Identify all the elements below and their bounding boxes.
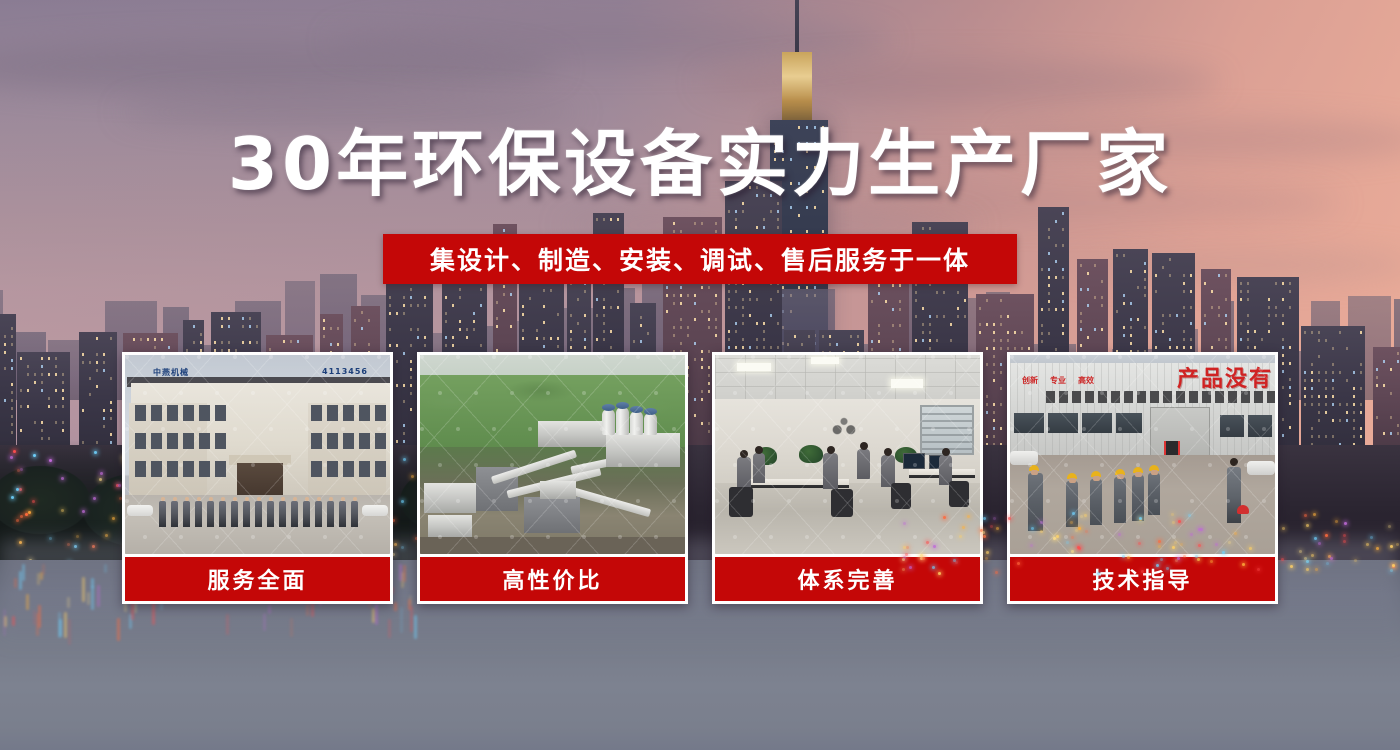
window-light (899, 300, 901, 303)
window-light (228, 341, 230, 344)
window-light (424, 296, 426, 299)
staff-figure (315, 501, 322, 527)
window-light (389, 328, 391, 331)
building-window (183, 433, 194, 449)
water-reflection (414, 615, 417, 639)
window-light (103, 361, 105, 364)
window-light (633, 340, 635, 343)
window-light (55, 365, 57, 368)
window-light (1304, 403, 1306, 406)
window-light (27, 373, 29, 376)
window-light (1311, 435, 1313, 438)
window-light (673, 230, 675, 233)
window-light (361, 311, 363, 314)
shore-light (1318, 542, 1321, 545)
water-reflection (59, 619, 62, 636)
window-light (936, 315, 938, 318)
window-light (1062, 212, 1064, 215)
window-light (410, 344, 412, 347)
window-light (770, 314, 772, 317)
shore-light (1197, 558, 1200, 561)
window-light (1376, 376, 1378, 379)
window-light (228, 325, 230, 328)
window-light (666, 294, 668, 297)
window-light (1123, 294, 1125, 297)
window-light (452, 336, 454, 339)
window-light (1094, 296, 1096, 299)
window-light (103, 369, 105, 372)
window-light (1282, 354, 1284, 357)
window-light (735, 322, 737, 325)
window-light (673, 334, 675, 337)
window-light (1268, 330, 1270, 333)
red-helmet-icon (1237, 505, 1249, 514)
window-light (899, 324, 901, 327)
window-light (133, 338, 135, 341)
window-light (777, 226, 779, 229)
window-light (617, 290, 619, 293)
window-light (4, 351, 6, 354)
water-reflection (38, 605, 41, 628)
window-light (763, 218, 765, 221)
window-light (103, 409, 105, 412)
window-light (1318, 339, 1320, 342)
shore-light (93, 497, 96, 500)
window-light (1247, 346, 1249, 349)
window-light (749, 314, 751, 317)
window-light (666, 310, 668, 313)
window-light (1176, 346, 1178, 349)
window-light (1332, 395, 1334, 398)
window-light (584, 338, 586, 341)
window-light (11, 335, 13, 338)
window-light (557, 337, 559, 340)
factory-wall-text: 产品没有 (1177, 361, 1273, 393)
window-light (34, 421, 36, 424)
window-light (1007, 339, 1009, 342)
building-window (167, 405, 178, 421)
window-light (687, 326, 689, 329)
shore-light (99, 478, 102, 481)
window-light (850, 335, 852, 338)
window-light (41, 357, 43, 360)
shore-light (920, 554, 923, 557)
window-light (1190, 274, 1192, 277)
window-light (993, 331, 995, 334)
shore-light (1078, 527, 1081, 530)
window-light (1211, 346, 1213, 349)
photo-office-interior (715, 355, 980, 554)
window-light (1325, 339, 1327, 342)
window-light (510, 293, 512, 296)
window-light (708, 286, 710, 289)
window-light (55, 357, 57, 360)
window-light (1087, 304, 1089, 307)
window-light (417, 336, 419, 339)
window-light (1000, 315, 1002, 318)
window-light (993, 323, 995, 326)
window-light (715, 334, 717, 337)
window-light (735, 218, 737, 221)
window-light (103, 353, 105, 356)
window-light (283, 340, 285, 343)
shore-light (1190, 533, 1193, 536)
window-light (715, 326, 717, 329)
window-light (1353, 427, 1355, 430)
window-light (1289, 394, 1291, 397)
shore-light (32, 500, 35, 503)
window-light (1247, 338, 1249, 341)
window-light (603, 314, 605, 317)
window-light (728, 330, 730, 333)
window-light (1282, 346, 1284, 349)
window-light (1218, 338, 1220, 341)
window-light (1282, 418, 1284, 421)
window-light (543, 321, 545, 324)
window-light (473, 312, 475, 315)
window-light (445, 312, 447, 315)
feature-card-system[interactable]: 体系完善 (712, 352, 983, 604)
window-light (1101, 280, 1103, 283)
shore-light (983, 535, 986, 538)
window-light (1190, 322, 1192, 325)
water-reflection (22, 564, 25, 581)
window-light (871, 340, 873, 343)
building-window (135, 461, 146, 477)
window-light (1062, 228, 1064, 231)
staff-figure (195, 501, 202, 527)
window-light (777, 290, 779, 293)
shore-light (100, 472, 103, 475)
building-window (359, 433, 370, 449)
window-light (1190, 346, 1192, 349)
staff-figure (267, 501, 274, 527)
window-light (570, 338, 572, 341)
shore-light (20, 515, 23, 518)
window-light (221, 341, 223, 344)
window-light (1360, 403, 1362, 406)
window-light (1062, 292, 1064, 295)
water-reflection (388, 619, 391, 638)
window-light (11, 415, 13, 418)
staff-figure (207, 501, 214, 527)
window-light (763, 322, 765, 325)
window-light (1080, 264, 1082, 267)
shore-light (995, 571, 998, 574)
window-light (459, 296, 461, 299)
window-light (55, 405, 57, 408)
window-light (41, 389, 43, 392)
feature-card-training[interactable]: 产品没有 创新 专业 高效 (1007, 352, 1278, 604)
window-light (1101, 304, 1103, 307)
window-light (640, 324, 642, 327)
window-light (1169, 314, 1171, 317)
building-window (151, 433, 162, 449)
shore-light (16, 519, 19, 522)
window-light (27, 365, 29, 368)
window-light (550, 289, 552, 292)
window-light (11, 407, 13, 410)
window-light (1062, 332, 1064, 335)
water-reflection (97, 585, 100, 608)
card-caption-label: 高性价比 (502, 563, 602, 595)
window-light (915, 315, 917, 318)
window-light (1204, 282, 1206, 285)
window-light (154, 338, 156, 341)
shore-light (1392, 564, 1395, 567)
window-light (964, 299, 966, 302)
water-reflection (91, 586, 94, 609)
card-caption-bar: 高性价比 (420, 554, 685, 601)
window-light (936, 291, 938, 294)
window-light (1311, 395, 1313, 398)
staff-figure (339, 501, 346, 527)
window-light (922, 339, 924, 342)
shore-light (1311, 554, 1314, 557)
window-light (466, 336, 468, 339)
window-light (337, 343, 339, 346)
window-light (899, 284, 901, 287)
window-light (742, 346, 744, 349)
window-light (557, 313, 559, 316)
window-light (899, 348, 901, 351)
window-light (1318, 435, 1320, 438)
window-light (62, 381, 64, 384)
building-window (311, 433, 322, 449)
window-light (1137, 318, 1139, 321)
window-light (110, 433, 112, 436)
window-light (1094, 328, 1096, 331)
window-light (728, 290, 730, 293)
window-light (1094, 264, 1096, 267)
water-reflection (104, 564, 107, 572)
window-light (993, 347, 995, 350)
window-light (1360, 387, 1362, 390)
window-light (777, 322, 779, 325)
window-light (735, 330, 737, 333)
window-light (1211, 290, 1213, 293)
window-light (103, 425, 105, 428)
window-light (1289, 362, 1291, 365)
shore-light (1174, 541, 1177, 544)
window-light (48, 373, 50, 376)
window-light (1183, 346, 1185, 349)
window-light (473, 320, 475, 323)
window-light (1080, 320, 1082, 323)
window-light (749, 346, 751, 349)
window-light (680, 318, 682, 321)
window-light (1041, 268, 1043, 271)
window-light (228, 317, 230, 320)
window-light (570, 346, 572, 349)
water-reflection (64, 612, 67, 639)
shore-light (1195, 555, 1198, 558)
shore-light (105, 534, 108, 537)
shore-light (61, 509, 64, 512)
window-light (763, 338, 765, 341)
feature-card-value[interactable]: 高性价比 (417, 352, 688, 604)
window-light (790, 206, 792, 209)
window-light (1007, 315, 1009, 318)
window-light (1123, 254, 1125, 257)
window-light (522, 329, 524, 332)
window-light (640, 316, 642, 319)
window-light (1162, 266, 1164, 269)
shore-light (933, 545, 936, 548)
window-light (756, 226, 758, 229)
window-light (1383, 360, 1385, 363)
shore-light (1198, 544, 1201, 547)
window-light (48, 397, 50, 400)
window-light (496, 317, 498, 320)
banner-stage: 30年环保设备实力生产厂家 集设计、制造、安装、调试、售后服务于一体 中燕机械 … (0, 0, 1400, 750)
window-light (62, 373, 64, 376)
window-light (11, 359, 13, 362)
water-reflection (117, 618, 120, 641)
shore-light (1228, 541, 1231, 544)
window-light (647, 332, 649, 335)
window-light (1282, 362, 1284, 365)
window-light (1240, 290, 1242, 293)
window-light (979, 307, 981, 310)
window-light (1325, 403, 1327, 406)
window-light (1000, 347, 1002, 350)
window-light (1048, 268, 1050, 271)
window-light (680, 326, 682, 329)
window-light (617, 218, 619, 221)
window-light (749, 290, 751, 293)
window-light (480, 344, 482, 347)
window-light (480, 288, 482, 291)
window-light (950, 339, 952, 342)
window-light (1247, 290, 1249, 293)
window-light (1155, 274, 1157, 277)
window-light (1311, 379, 1313, 382)
window-light (1041, 308, 1043, 311)
feature-card-service[interactable]: 中燕机械 4113456 服务全面 (122, 352, 393, 604)
building-window (135, 405, 146, 421)
window-light (1137, 286, 1139, 289)
window-light (829, 335, 831, 338)
window-light (1101, 328, 1103, 331)
window-light (1183, 314, 1185, 317)
window-light (221, 317, 223, 320)
window-light (1353, 419, 1355, 422)
window-light (993, 339, 995, 342)
window-light (964, 315, 966, 318)
window-light (701, 286, 703, 289)
window-light (1048, 332, 1050, 335)
window-light (48, 405, 50, 408)
water-reflection (290, 618, 293, 637)
shore-light (1172, 546, 1175, 549)
parked-car (362, 505, 388, 516)
window-light (1144, 278, 1146, 281)
window-light (1048, 300, 1050, 303)
window-light (82, 353, 84, 356)
window-light (1275, 306, 1277, 309)
window-light (1318, 355, 1320, 358)
window-light (1123, 326, 1125, 329)
window-light (617, 306, 619, 309)
window-light (1311, 371, 1313, 374)
window-light (41, 381, 43, 384)
window-light (1048, 228, 1050, 231)
window-light (103, 417, 105, 420)
window-light (1162, 314, 1164, 317)
window-light (1325, 371, 1327, 374)
card-caption-label: 技术指导 (1092, 563, 1192, 595)
window-light (459, 328, 461, 331)
building-window (167, 433, 178, 449)
window-light (892, 324, 894, 327)
window-light (1282, 338, 1284, 341)
water-reflection (87, 592, 90, 605)
window-light (929, 315, 931, 318)
window-light (445, 344, 447, 347)
window-light (1304, 395, 1306, 398)
window-light (885, 300, 887, 303)
window-light (610, 218, 612, 221)
window-light (584, 290, 586, 293)
window-light (1318, 411, 1320, 414)
window-light (666, 286, 668, 289)
window-light (1101, 296, 1103, 299)
window-light (680, 230, 682, 233)
window-light (1289, 282, 1291, 285)
window-light (1225, 314, 1227, 317)
window-light (110, 377, 112, 380)
window-light (929, 323, 931, 326)
window-light (161, 338, 163, 341)
window-light (806, 230, 808, 233)
window-light (728, 338, 730, 341)
window-light (1041, 332, 1043, 335)
wall-logo-icon (827, 411, 861, 437)
water-reflection (37, 573, 40, 585)
window-light (1289, 306, 1291, 309)
shore-light (94, 451, 97, 454)
window-light (1275, 282, 1277, 285)
window-light (728, 298, 730, 301)
window-light (1325, 387, 1327, 390)
window-light (584, 314, 586, 317)
window-light (787, 343, 789, 346)
staff-figure (243, 501, 250, 527)
window-light (1247, 314, 1249, 317)
window-light (410, 328, 412, 331)
window-light (1055, 276, 1057, 279)
window-light (1087, 336, 1089, 339)
window-light (1183, 274, 1185, 277)
shore-light (19, 488, 22, 491)
window-light (687, 334, 689, 337)
building-window (343, 405, 354, 421)
window-light (1204, 314, 1206, 317)
shore-light (1366, 543, 1369, 546)
window-light (1130, 334, 1132, 337)
shore-light (1257, 568, 1260, 571)
parked-car (127, 505, 153, 516)
building-window (359, 405, 370, 421)
page-title: 30年环保设备实力生产厂家 (0, 128, 1400, 200)
window-light (1123, 302, 1125, 305)
shore-light (1122, 555, 1125, 558)
window-light (756, 346, 758, 349)
window-light (1014, 331, 1016, 334)
window-light (11, 399, 13, 402)
card-caption-label: 服务全面 (207, 563, 307, 595)
